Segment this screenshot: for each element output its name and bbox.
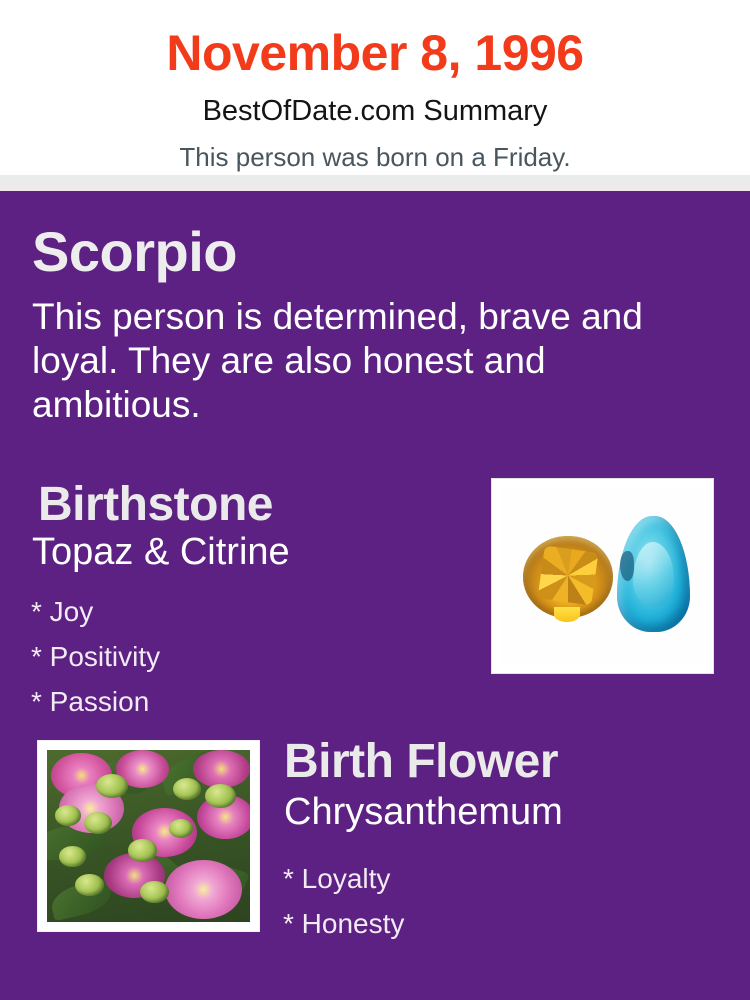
list-item: * Passion <box>31 679 160 724</box>
content-panel: Scorpio This person is determined, brave… <box>0 191 750 1000</box>
header-divider-upper <box>0 175 750 186</box>
list-item: * Honesty <box>283 901 404 946</box>
birthstone-trait-list: * Joy * Positivity * Passion <box>31 589 160 724</box>
page-title: November 8, 1996 <box>0 0 750 78</box>
card-header: November 8, 1996 BestOfDate.com Summary … <box>0 0 750 175</box>
birthday-summary-card: November 8, 1996 BestOfDate.com Summary … <box>0 0 750 1000</box>
birth-flower-name: Chrysanthemum <box>284 793 563 831</box>
chrysanthemum-bloom <box>165 860 242 918</box>
birth-flower-heading: Birth Flower <box>284 738 558 786</box>
birth-day-note: This person was born on a Friday. <box>0 126 750 170</box>
list-item: * Joy <box>31 589 160 634</box>
birth-flower-photo <box>47 750 250 922</box>
birth-flower-trait-list: * Loyalty * Honesty <box>283 856 404 946</box>
site-summary-label: BestOfDate.com Summary <box>0 78 750 126</box>
zodiac-description: This person is determined, brave and loy… <box>32 295 712 427</box>
birthstone-heading: Birthstone <box>38 481 273 529</box>
topaz-gem-icon <box>617 516 690 632</box>
birthstone-name: Topaz & Citrine <box>32 533 290 571</box>
list-item: * Loyalty <box>283 856 404 901</box>
birthstone-image-frame <box>491 478 714 674</box>
zodiac-sign-heading: Scorpio <box>32 224 237 280</box>
birth-flower-image-frame <box>37 740 260 932</box>
chrysanthemum-bloom <box>193 750 250 788</box>
list-item: * Positivity <box>31 634 160 679</box>
birthstone-photo <box>501 488 704 664</box>
citrine-gem-icon <box>523 536 612 619</box>
